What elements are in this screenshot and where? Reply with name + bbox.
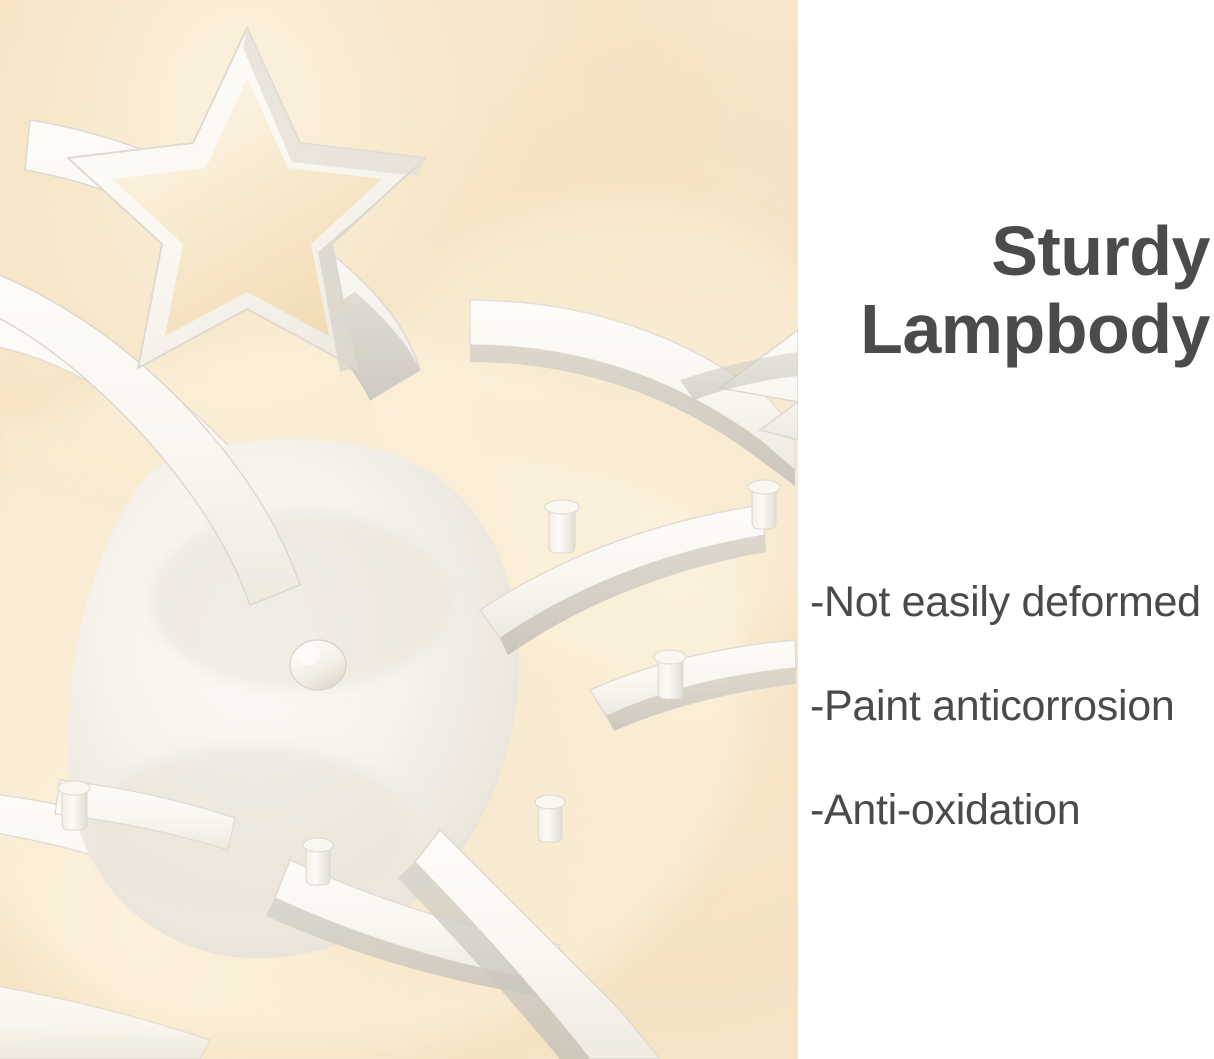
headline-line-2: Lampbody	[798, 290, 1210, 368]
feature-item-1: -Not easily deformed	[810, 576, 1214, 628]
product-photo	[0, 0, 798, 1059]
feature-list: -Not easily deformed -Paint anticorrosio…	[810, 576, 1214, 836]
marketing-banner: Sturdy Lampbody -Not easily deformed -Pa…	[0, 0, 1214, 1059]
headline-line-1: Sturdy	[798, 212, 1210, 290]
star-lamp-photo-illustration	[0, 0, 798, 1059]
page-title: Sturdy Lampbody	[798, 212, 1210, 368]
photo-vignette	[0, 0, 798, 1059]
feature-text-panel: Sturdy Lampbody -Not easily deformed -Pa…	[798, 0, 1214, 1059]
feature-item-2: -Paint anticorrosion	[810, 680, 1214, 732]
feature-item-3: -Anti-oxidation	[810, 784, 1214, 836]
